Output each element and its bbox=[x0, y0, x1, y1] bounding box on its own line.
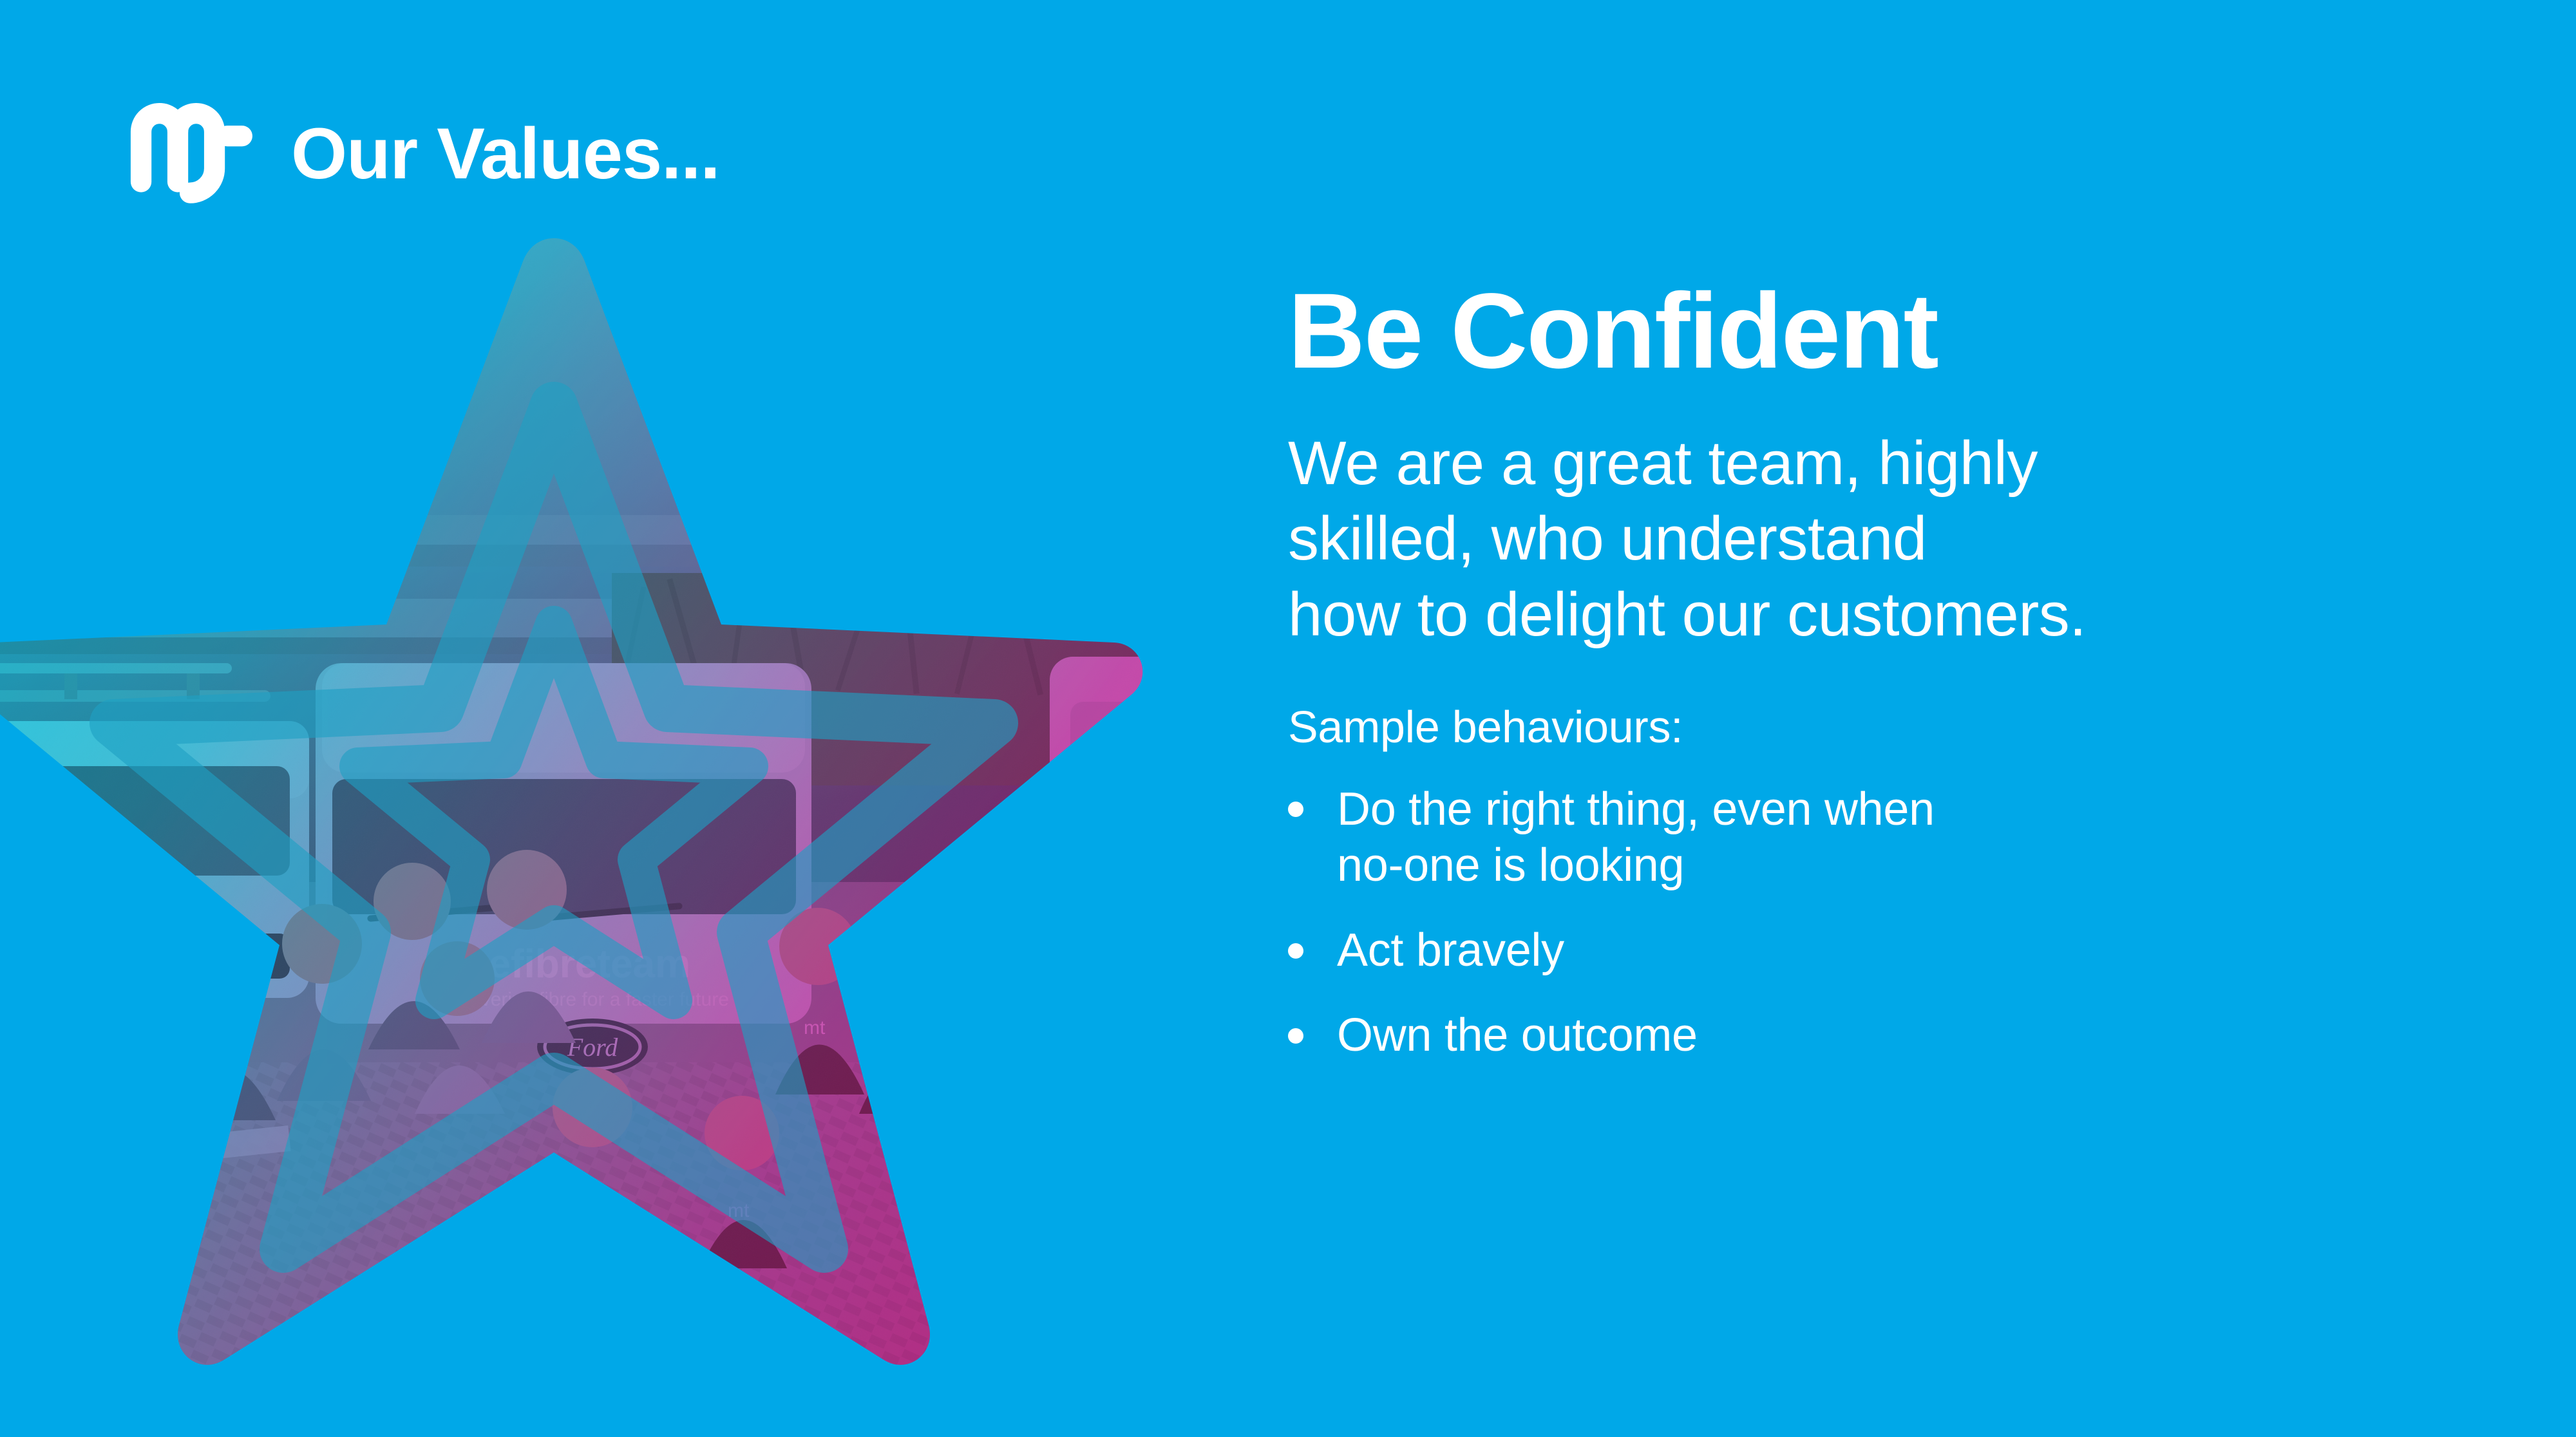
list-item: Do the right thing, even when no-one is … bbox=[1288, 782, 2421, 895]
bullet-dot-icon bbox=[1288, 1028, 1303, 1044]
bullet-3-line-1: Own the outcome bbox=[1337, 1008, 2421, 1064]
sample-behaviours-list: Do the right thing, even when no-one is … bbox=[1288, 782, 2421, 1064]
people-left-group bbox=[0, 865, 276, 1120]
list-item: Own the outcome bbox=[1288, 1008, 2421, 1064]
bullet-1-line-2: no-one is looking bbox=[1337, 838, 2421, 894]
van-left: PMN-883-A bbox=[0, 663, 309, 1055]
uniform-logo-text: mt bbox=[728, 1200, 750, 1221]
value-description: We are a great team, highly skilled, who… bbox=[1288, 426, 2421, 652]
vehicle-badge-text: Ford bbox=[567, 1033, 619, 1062]
slide-header: Our Values... bbox=[126, 90, 720, 212]
value-description-line-2: skilled, who understand bbox=[1288, 501, 2421, 576]
value-description-line-1: We are a great team, highly bbox=[1288, 426, 2421, 501]
values-content-block: Be Confident We are a great team, highly… bbox=[1288, 277, 2421, 1064]
van-tagline-text: delivering fibre for a faster future bbox=[451, 989, 729, 1010]
page-title: Our Values... bbox=[291, 118, 720, 190]
bullet-dot-icon bbox=[1288, 943, 1303, 959]
van-brand-text: thefibreteam bbox=[451, 942, 690, 986]
sample-behaviours-label: Sample behaviours: bbox=[1288, 702, 2421, 752]
list-item: Act bravely bbox=[1288, 923, 2421, 979]
star-outline-overlay bbox=[113, 406, 994, 1249]
people-right-group: mt mt bbox=[701, 877, 1109, 1268]
mt-monogram-logo-icon bbox=[126, 90, 255, 212]
license-plate-text: PMN-883-A bbox=[64, 1020, 225, 1053]
van-branding: thefibreteam delivering fibre for a fast… bbox=[451, 942, 729, 1010]
value-description-line-3: how to delight our customers. bbox=[1288, 577, 2421, 652]
star-photo-collage-artwork: PMN-883-A thefibreteam delivering fibre … bbox=[0, 212, 1236, 1437]
collage-photo-group: PMN-883-A thefibreteam delivering fibre … bbox=[0, 212, 1236, 1437]
bullet-1-line-1: Do the right thing, even when bbox=[1337, 782, 2421, 838]
slide-canvas: PMN-883-A thefibreteam delivering fibre … bbox=[0, 0, 2576, 1437]
svg-text:mt: mt bbox=[804, 1017, 826, 1038]
value-headline: Be Confident bbox=[1288, 277, 2421, 386]
bullet-dot-icon bbox=[1288, 802, 1303, 817]
van-centre: thefibreteam delivering fibre for a fast… bbox=[316, 663, 811, 1075]
people-centre-group bbox=[277, 850, 662, 1257]
bullet-2-line-1: Act bravely bbox=[1337, 923, 2421, 979]
van-right bbox=[1050, 657, 1236, 1107]
